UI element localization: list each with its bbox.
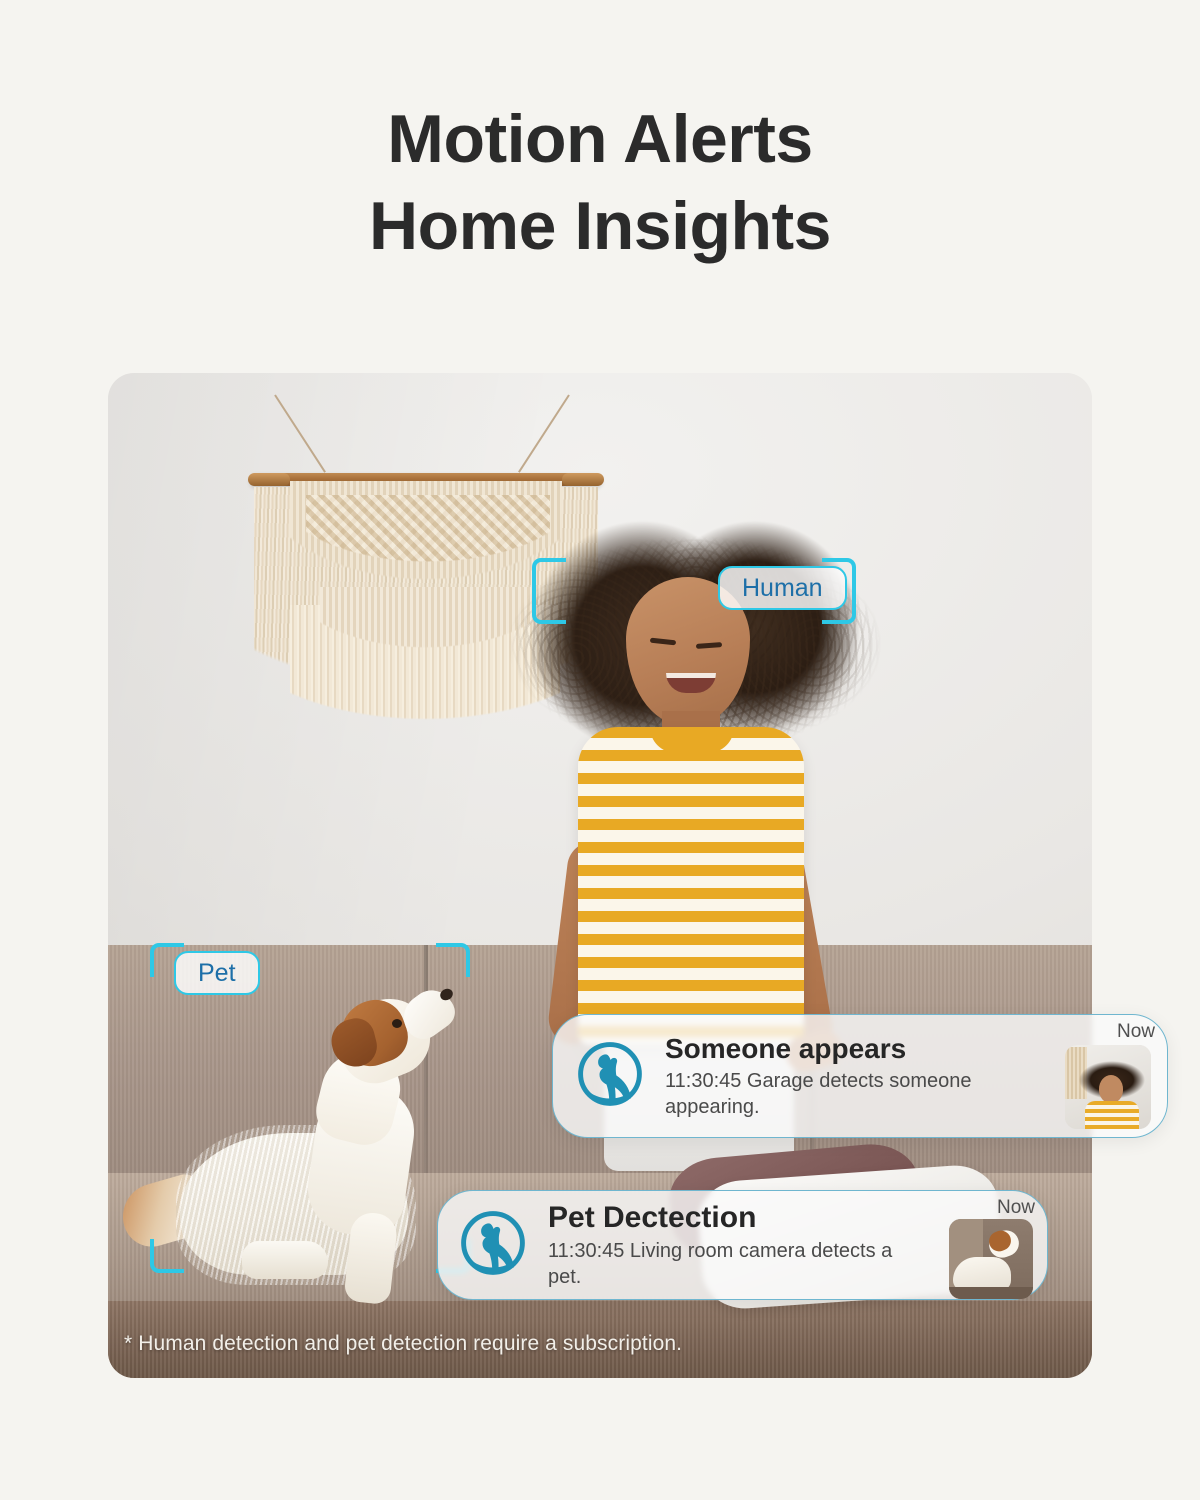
girl-thumbnail[interactable] bbox=[1065, 1045, 1151, 1129]
notification-description: 11:30:45 Living room camera detects a pe… bbox=[548, 1238, 927, 1290]
notification-text-block: Pet Dectection 11:30:45 Living room came… bbox=[528, 1200, 935, 1290]
dog-figure bbox=[116, 985, 456, 1315]
child-striped-shirt bbox=[578, 727, 804, 1045]
dog-paw bbox=[242, 1241, 328, 1279]
thumbnail-face bbox=[1099, 1075, 1123, 1103]
notification-timestamp: Now bbox=[1117, 1021, 1155, 1043]
page-header: Motion Alerts Home Insights bbox=[0, 0, 1200, 270]
thumbnail-seat bbox=[949, 1287, 1033, 1299]
macrame-cord-right bbox=[518, 394, 570, 472]
notification-card-pet[interactable]: Pet Dectection 11:30:45 Living room came… bbox=[437, 1190, 1048, 1300]
page-title-line-2: Home Insights bbox=[0, 183, 1200, 270]
notification-timestamp: Now bbox=[997, 1197, 1035, 1219]
macrame-cord-left bbox=[274, 394, 326, 472]
child-shirt-collar bbox=[650, 727, 734, 753]
pet-detection-icon bbox=[458, 1208, 528, 1283]
subscription-footnote: * Human detection and pet detection requ… bbox=[124, 1332, 682, 1356]
notification-card-human[interactable]: Someone appears 11:30:45 Garage detects … bbox=[552, 1014, 1168, 1138]
page-title-line-1: Motion Alerts bbox=[0, 96, 1200, 183]
thumbnail-dog-body bbox=[953, 1257, 1011, 1291]
notification-meta: Now bbox=[1049, 1015, 1167, 1137]
dog-thumbnail[interactable] bbox=[949, 1219, 1033, 1299]
notification-title: Pet Dectection bbox=[548, 1200, 927, 1235]
notification-title: Someone appears bbox=[665, 1032, 1041, 1065]
thumbnail-shirt bbox=[1085, 1101, 1139, 1129]
notification-meta: Now bbox=[935, 1191, 1047, 1299]
notification-text-block: Someone appears 11:30:45 Garage detects … bbox=[645, 1032, 1049, 1120]
dog-front-leg bbox=[343, 1211, 398, 1305]
pet-detection-icon bbox=[575, 1039, 645, 1114]
dog-eye bbox=[392, 1019, 402, 1028]
notification-description: 11:30:45 Garage detects someone appearin… bbox=[665, 1068, 1041, 1120]
